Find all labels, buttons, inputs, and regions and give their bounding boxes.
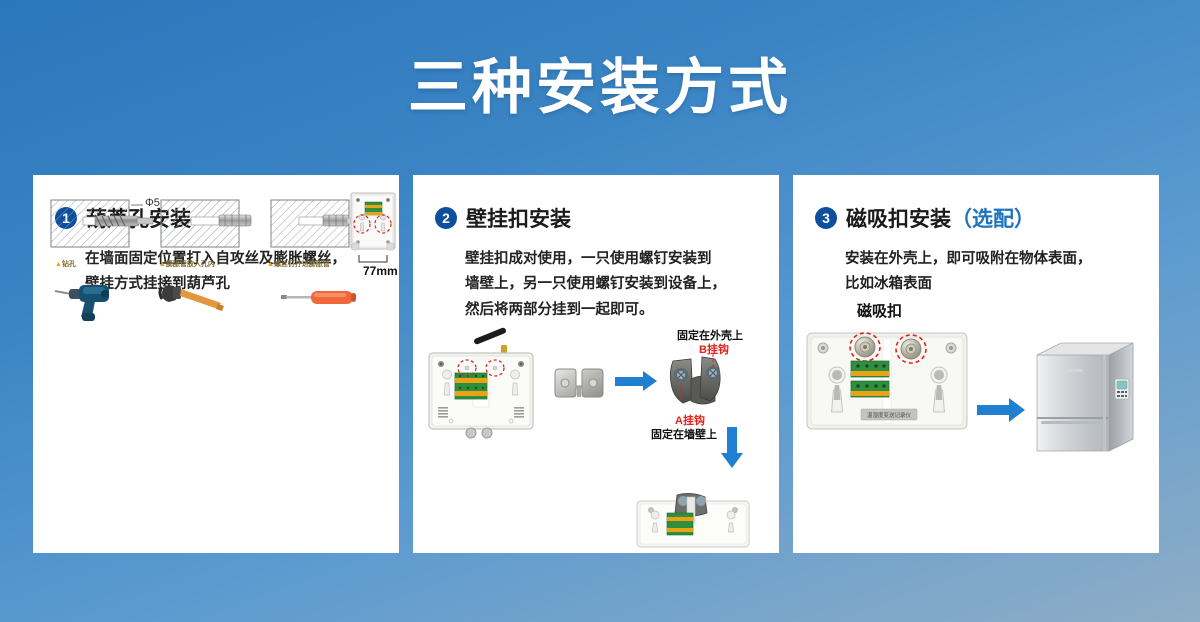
step-caption-1: ▲钻孔 xyxy=(55,261,76,269)
card-body-line: 在墙面固定位置打入自攻丝及膨胀螺丝， xyxy=(85,247,377,272)
method-card-magnetic-buckle: 3 磁吸扣安装（选配） 安装在外壳上，即可吸附在物体表面， 比如冰箱表面 xyxy=(793,175,1159,553)
card-title-text: 葫芦孔安装 xyxy=(86,208,191,231)
card-title-text: 磁吸扣安装 xyxy=(846,208,951,231)
hook-a-target-label: 固定在墙壁上 xyxy=(651,429,717,442)
card-title: 葫芦孔安装 xyxy=(86,203,191,233)
card-body-line: 壁挂扣成对使用，一只使用螺钉安装到 xyxy=(465,247,757,272)
install-methods-row: 1 葫芦孔安装 在墙面固定位置打入自攻丝及膨胀螺丝， 壁挂方式挂接到葫芦孔 xyxy=(0,175,1200,553)
hook-b-label: B挂钩 xyxy=(699,344,729,357)
card-body: 壁挂扣成对使用，一只使用螺钉安装到 墙壁上，另一只使用螺钉安装到设备上， 然后将… xyxy=(465,247,757,323)
step-number-badge: 1 xyxy=(55,207,77,229)
card-body-line: 比如冰箱表面 xyxy=(845,272,1137,297)
method-card-keyhole: 1 葫芦孔安装 在墙面固定位置打入自攻丝及膨胀螺丝， 壁挂方式挂接到葫芦孔 xyxy=(33,175,399,553)
card-header: 2 壁挂扣安装 xyxy=(435,203,757,233)
magnetic-buckle-label: 磁吸扣 xyxy=(857,303,902,320)
step-number-badge: 2 xyxy=(435,207,457,229)
card-title: 磁吸扣安装（选配） xyxy=(846,203,1035,233)
card-title-text: 壁挂扣安装 xyxy=(466,208,571,231)
card-header: 1 葫芦孔安装 xyxy=(55,203,377,233)
card-body-line: 安装在外壳上，即可吸附在物体表面， xyxy=(845,247,1137,272)
card-body: 安装在外壳上，即可吸附在物体表面， 比如冰箱表面 xyxy=(845,247,1137,298)
card-header: 3 磁吸扣安装（选配） xyxy=(815,203,1137,233)
hook-a-label: A挂钩 xyxy=(675,415,705,428)
card-body-line: 然后将两部分挂到一起即可。 xyxy=(465,298,757,323)
card-body-line: 墙壁上，另一只使用螺钉安装到设备上， xyxy=(465,272,757,297)
triangle-bullet-icon: ▲ xyxy=(55,261,62,268)
card-title: 壁挂扣安装 xyxy=(466,203,571,233)
method-card-wall-buckle: 2 壁挂扣安装 壁挂扣成对使用，一只使用螺钉安装到 墙壁上，另一只使用螺钉安装到… xyxy=(413,175,779,553)
card-title-optional: （选配） xyxy=(951,208,1035,231)
card-body: 在墙面固定位置打入自攻丝及膨胀螺丝， 壁挂方式挂接到葫芦孔 xyxy=(85,247,377,298)
svg-text:温湿度变送记录仪: 温湿度变送记录仪 xyxy=(867,411,912,419)
hook-b-target-label: 固定在外壳上 xyxy=(677,330,743,343)
page-title: 三种安装方式 xyxy=(408,58,792,118)
page-header: 三种安装方式 xyxy=(0,0,1200,175)
card-body-line: 壁挂方式挂接到葫芦孔 xyxy=(85,272,377,297)
step-number-badge: 3 xyxy=(815,207,837,229)
